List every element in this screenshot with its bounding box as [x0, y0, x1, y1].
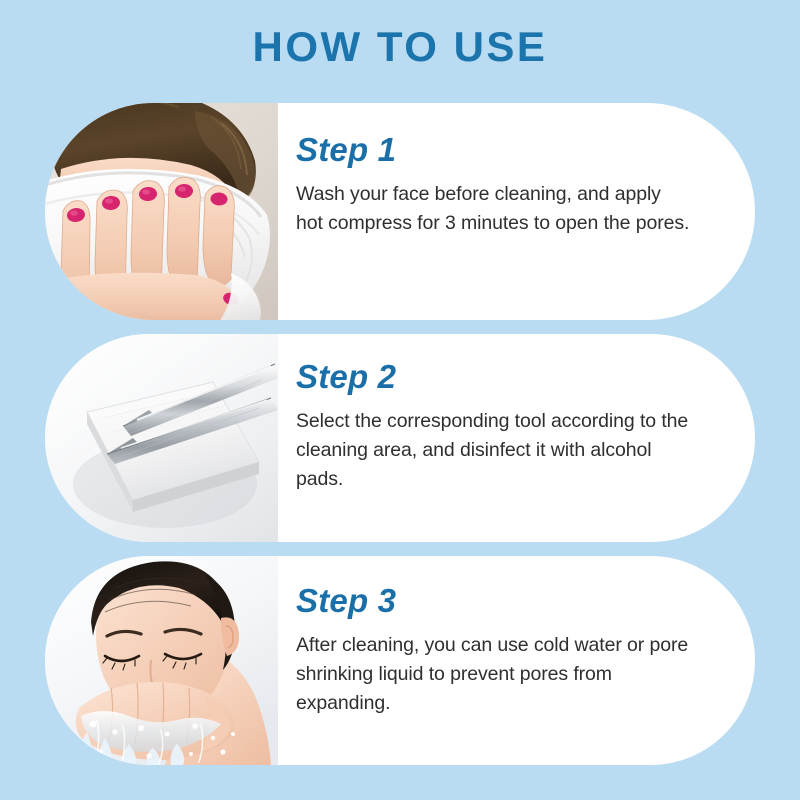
step-text: Step 2 Select the corresponding tool acc… — [278, 334, 755, 542]
splashing-water-photo — [45, 556, 278, 765]
step-text: Step 1 Wash your face before cleaning, a… — [278, 103, 755, 320]
step-photo — [45, 103, 278, 320]
step-heading: Step 2 — [296, 360, 691, 393]
tweezers-gauze-photo — [45, 334, 278, 542]
step-heading: Step 1 — [296, 133, 691, 166]
towel-compress-photo — [45, 103, 278, 320]
page-title: HOW TO USE — [0, 0, 800, 68]
steps-list: Step 1 Wash your face before cleaning, a… — [45, 103, 755, 779]
step-body: Wash your face before cleaning, and appl… — [296, 180, 691, 238]
how-to-use-page: HOW TO USE — [0, 0, 800, 800]
step-heading: Step 3 — [296, 584, 691, 617]
step-photo — [45, 334, 278, 542]
step-body: After cleaning, you can use cold water o… — [296, 631, 691, 718]
step-card: Step 1 Wash your face before cleaning, a… — [45, 103, 755, 320]
step-photo — [45, 556, 278, 765]
step-card: Step 3 After cleaning, you can use cold … — [45, 556, 755, 765]
step-body: Select the corresponding tool according … — [296, 407, 691, 494]
step-card: Step 2 Select the corresponding tool acc… — [45, 334, 755, 542]
step-text: Step 3 After cleaning, you can use cold … — [278, 556, 755, 765]
